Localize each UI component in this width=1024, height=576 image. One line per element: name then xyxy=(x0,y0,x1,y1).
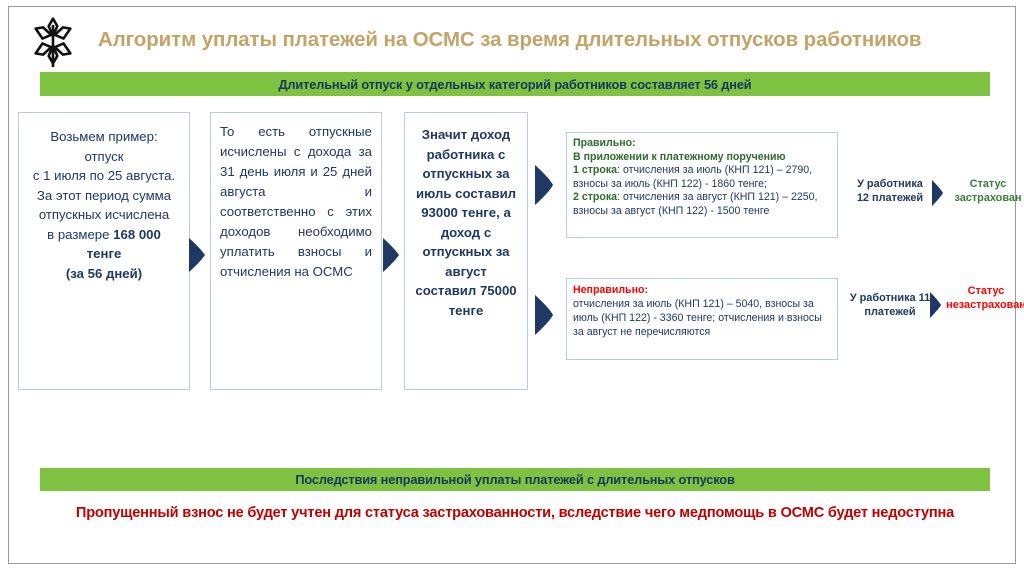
right-arrow-icon xyxy=(534,295,554,335)
page-title: Алгоритм уплаты платежей на ОСМС за врем… xyxy=(98,20,1016,60)
box1-line2: отпуск xyxy=(84,149,123,164)
correct-subtitle: В приложении к платежному поручению xyxy=(573,151,832,165)
box3-text: Значит доход работника с отпускных за ию… xyxy=(415,127,516,318)
employee-payments-correct-line1: У работника xyxy=(857,178,923,190)
step-box-explanation: То есть отпускные исчислены с дохода за … xyxy=(210,112,382,390)
right-arrow-icon xyxy=(534,165,554,205)
employee-payments-incorrect-line1: У работника 11 xyxy=(850,292,930,304)
step-box-example: Возьмем пример: отпуск с 1 июля по 25 ав… xyxy=(18,112,190,390)
box1-line6-prefix: в размере xyxy=(47,227,113,242)
incorrect-label: Неправильно: xyxy=(573,283,832,297)
incorrect-payment-box: Неправильно: отчисления за июль (КНП 121… xyxy=(566,278,838,360)
right-arrow-icon xyxy=(188,238,206,272)
footer-warning-text: Пропущенный взнос не будет учтен для ста… xyxy=(40,500,990,526)
status-uninsured-line1: Статус xyxy=(968,285,1005,297)
right-arrow-icon xyxy=(929,292,942,318)
employee-payments-incorrect-line2: платежей xyxy=(864,306,915,318)
box1-line5: отпускных исчислена xyxy=(39,207,169,222)
osms-flower-logo-icon xyxy=(16,10,90,72)
banner-consequences: Последствия неправильной уплаты платежей… xyxy=(40,468,990,491)
box1-line3: с 1 июля по 25 августа. xyxy=(33,168,175,183)
box1-currency: тенге xyxy=(87,246,122,261)
employee-payments-incorrect: У работника 11 платежей xyxy=(844,292,936,319)
status-uninsured-line2: незастрахован xyxy=(946,299,1024,311)
box1-days: (за 56 дней) xyxy=(66,266,142,281)
correct-label: Правильно: xyxy=(573,137,832,151)
correct-row2-label: 2 строка xyxy=(573,191,617,203)
status-badge-uninsured: Статус незастрахован xyxy=(946,285,1024,312)
box1-line1: Возьмем пример: xyxy=(50,129,157,144)
status-badge-insured: Статус застрахован xyxy=(952,178,1024,205)
banner-long-leave: Длительный отпуск у отдельных категорий … xyxy=(40,72,990,96)
correct-row1-label: 1 строка xyxy=(573,164,617,176)
box2-text: То есть отпускные исчислены с дохода за … xyxy=(220,122,372,282)
employee-payments-correct: У работника 12 платежей xyxy=(846,178,934,205)
status-insured-line1: Статус xyxy=(970,178,1007,190)
employee-payments-correct-line2: 12 платежей xyxy=(857,192,923,204)
right-arrow-icon xyxy=(382,238,400,272)
step-box-income: Значит доход работника с отпускных за ию… xyxy=(404,112,528,390)
right-arrow-icon xyxy=(931,180,944,206)
correct-payment-box: Правильно: В приложении к платежному пор… xyxy=(566,132,838,238)
incorrect-text: отчисления за июль (КНП 121) – 5040, взн… xyxy=(573,298,822,338)
box1-line4: За этот период сумма xyxy=(37,188,171,203)
status-insured-line2: застрахован xyxy=(954,192,1021,204)
slide-root: Алгоритм уплаты платежей на ОСМС за врем… xyxy=(0,0,1024,576)
box1-amount: 168 000 xyxy=(113,227,161,242)
